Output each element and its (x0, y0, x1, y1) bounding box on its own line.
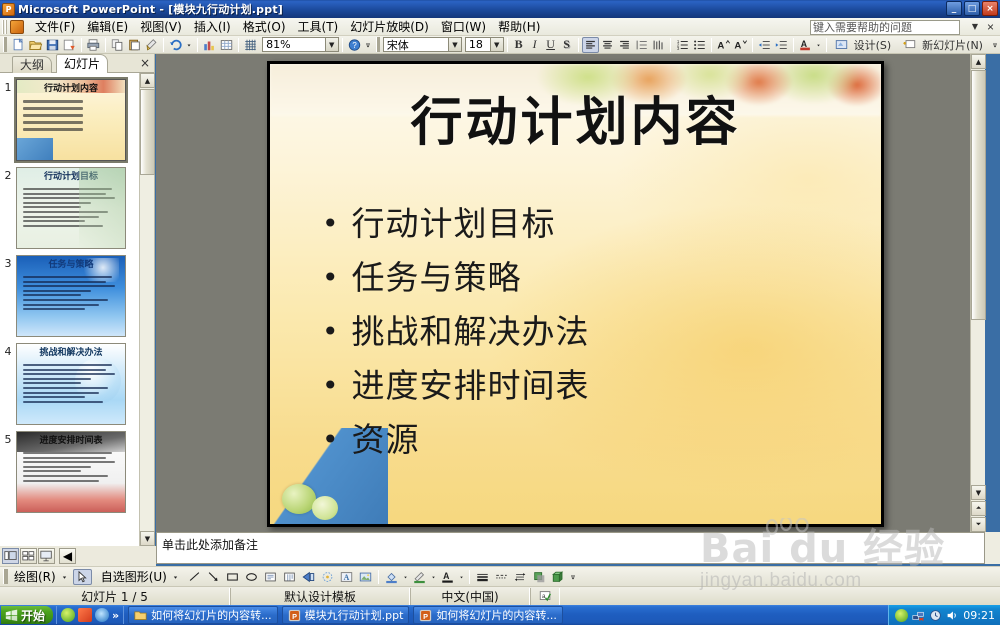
align-center-icon[interactable] (599, 37, 616, 53)
line-icon[interactable] (185, 569, 204, 585)
font-size-combo[interactable]: 18 ▼ (465, 37, 504, 52)
quick-launch-bar: » (56, 606, 124, 624)
slide-title-text[interactable]: 行动计划内容 (290, 80, 861, 155)
slide-thumbnail-line (23, 304, 99, 306)
menu-item-file[interactable]: 文件(F) (29, 17, 81, 36)
view-buttons-row: ◀ (0, 546, 156, 566)
slide-thumbnail-line (23, 197, 115, 199)
decrease-font-size-icon[interactable]: A (732, 37, 749, 53)
slide-thumbnail-title: 行动计划目标 (21, 172, 121, 182)
clock-icon[interactable] (929, 609, 942, 622)
chevron-down-icon[interactable]: ▼ (490, 38, 503, 51)
slide-thumbnail-number: 1 (0, 79, 16, 94)
svg-text:A: A (800, 38, 807, 48)
font-name-value: 宋体 (387, 37, 409, 53)
drawing-toolbar: 绘图(R) 自选图形(U) (0, 566, 1000, 586)
slide-thumbnail-line (23, 211, 108, 213)
slide-thumbnail-line (23, 475, 108, 477)
scroll-down-button[interactable]: ▼ (140, 531, 155, 546)
underline-button[interactable]: U (543, 37, 559, 53)
slide-thumbnail-body-lines (23, 100, 120, 135)
start-button[interactable]: 开始 (1, 606, 53, 624)
window-titlebar: P Microsoft PowerPoint - [模块九行动计划.ppt] _… (0, 0, 1000, 18)
slide-thumbnail-line (23, 401, 103, 403)
toolbar-separator (578, 38, 579, 52)
slide-thumbnail-line (23, 461, 115, 463)
align-right-icon[interactable] (616, 37, 633, 53)
fruit-decoration-icon (312, 496, 338, 520)
slide-thumbnail-line (23, 382, 81, 384)
scroll-left-button[interactable]: ◀ (59, 548, 76, 564)
slide-thumbnail-body-lines (23, 452, 120, 484)
menu-grip[interactable] (2, 20, 8, 34)
slide-thumbnail-title: 行动计划内容 (21, 84, 121, 94)
slide-thumbnail-line (23, 378, 91, 380)
slide-thumbnail-line (23, 285, 115, 287)
demote-icon[interactable] (773, 37, 790, 53)
new-icon[interactable] (10, 37, 27, 53)
svg-text:3: 3 (676, 45, 679, 50)
toolbar-separator (670, 38, 671, 52)
slide-thumbnail-line (23, 466, 91, 468)
slide-thumbnail-line (23, 225, 103, 227)
new-slide-button-label: 新幻灯片(N) (919, 37, 986, 53)
slide-thumbnail-line (23, 369, 106, 371)
svg-text:A: A (443, 571, 450, 581)
chevron-down-icon[interactable] (401, 569, 410, 585)
slide-thumbnail-line (23, 470, 81, 472)
slide-thumbnail-line (23, 480, 99, 482)
maximize-button[interactable]: □ (964, 1, 980, 16)
bullet-marker-icon: • (322, 366, 340, 406)
slide-thumbnail-line (23, 299, 108, 301)
volume-icon[interactable] (946, 609, 959, 622)
slide-thumbnail-title: 进度安排时间表 (21, 436, 121, 446)
next-slide-button[interactable]: ⏷ (971, 517, 986, 532)
internet-explorer-icon[interactable] (95, 608, 109, 622)
scrollbar-thumb[interactable] (971, 70, 986, 320)
drawing-toolbar-grip[interactable] (3, 569, 8, 584)
slide-thumbnail-item[interactable]: 4挑战和解决办法 (0, 337, 140, 425)
slide-thumbnail-line (23, 114, 83, 117)
menu-item-window[interactable]: 窗口(W) (435, 17, 492, 36)
drawing-overflow-icon[interactable] (568, 569, 578, 585)
powerpoint-window: P Microsoft PowerPoint - [模块九行动计划.ppt] _… (0, 0, 1000, 625)
help-icon[interactable]: ? (346, 37, 363, 53)
slide-thumbnail-item[interactable]: 1行动计划内容 (0, 73, 140, 161)
toolbar-separator (711, 38, 712, 52)
line-color-icon[interactable] (410, 569, 429, 585)
previous-slide-button[interactable]: ⏶ (971, 501, 986, 516)
slide-thumbnail-line (23, 220, 85, 222)
document-icon (10, 20, 24, 34)
formatting-overflow-icon[interactable] (990, 37, 1000, 53)
slide-thumbnail-line (23, 452, 112, 454)
align-left-icon[interactable] (582, 37, 599, 53)
status-design-template[interactable]: 默认设计模板 (230, 588, 410, 605)
taskbar-button-powerpoint-2[interactable]: P 如何将幻灯片的内容转... (413, 606, 563, 624)
slide-thumbnail[interactable]: 挑战和解决办法 (16, 343, 126, 425)
window-title: Microsoft PowerPoint - [模块九行动计划.ppt] (18, 1, 283, 17)
toolbar-grip[interactable] (3, 37, 7, 52)
toolbar-separator (342, 38, 343, 52)
svg-text:A: A (717, 40, 724, 51)
insert-diagram-icon[interactable] (299, 569, 318, 585)
status-language[interactable]: 中文(中国) (410, 588, 530, 605)
chevron-down-icon[interactable]: ▼ (325, 38, 338, 51)
bullet-marker-icon: • (322, 204, 340, 244)
insert-clipart-icon[interactable] (318, 569, 337, 585)
line-style-icon[interactable] (473, 569, 492, 585)
slide-thumbnail-number: 2 (0, 167, 16, 182)
shadow-style-icon[interactable] (530, 569, 549, 585)
menu-bar: 文件(F) 编辑(E) 视图(V) 插入(I) 格式(O) 工具(T) 幻灯片放… (0, 18, 1000, 36)
slide-thumbnail-number: 5 (0, 431, 16, 446)
slide-thumbnail-line (23, 128, 83, 131)
slide-thumbnail-line (23, 107, 83, 110)
oval-icon[interactable] (242, 569, 261, 585)
slide-bullet-text: 资源 (352, 420, 420, 460)
slide-thumbnail-list[interactable]: 1行动计划内容2行动计划目标3任务与策略4挑战和解决办法5进度安排时间表 (0, 73, 140, 546)
slide-thumbnail[interactable]: 行动计划内容 (16, 79, 126, 161)
folder-icon (134, 609, 147, 622)
toolbar-separator (793, 38, 794, 52)
toolbar-separator (163, 38, 164, 52)
increase-font-size-icon[interactable]: A (715, 37, 732, 53)
toolbar-separator (105, 38, 106, 52)
slide-bullet-item[interactable]: •任务与策略 (322, 258, 851, 298)
slide-body-text[interactable]: •行动计划目标•任务与策略•挑战和解决办法•进度安排时间表•资源 (322, 204, 851, 474)
svg-text:?: ? (352, 41, 357, 50)
arrow-icon[interactable] (204, 569, 223, 585)
textbox-icon[interactable] (261, 569, 280, 585)
taskbar-button-label: 模块九行动计划.ppt (305, 607, 404, 623)
tab-slides[interactable]: 幻灯片 (56, 54, 108, 73)
toolbar-separator (81, 38, 82, 52)
slide-thumbnail-line (23, 193, 106, 195)
arrow-select-icon[interactable] (73, 569, 92, 585)
menu-item-insert[interactable]: 插入(I) (188, 17, 237, 36)
svg-text:A: A (734, 40, 741, 51)
font-name-combo[interactable]: 宋体 ▼ (383, 37, 462, 52)
columns-icon[interactable] (650, 37, 667, 53)
slide-sorter-view-button[interactable] (20, 548, 37, 564)
media-icon[interactable] (895, 609, 908, 622)
fruit-decoration-icon (282, 484, 316, 514)
slide-thumbnail-line (23, 216, 99, 218)
slide-thumbnail-item[interactable]: 2行动计划目标 (0, 161, 140, 249)
toolbar-separator (826, 38, 827, 52)
slide-bullet-item[interactable]: •资源 (322, 420, 851, 460)
chevron-down-icon[interactable] (457, 569, 466, 585)
slide-thumbnail-line (23, 206, 81, 208)
taskbar-button-label: 如何将幻灯片的内容转... (436, 607, 557, 623)
menu-item-view[interactable]: 视图(V) (134, 17, 188, 36)
font-color-icon[interactable]: A (797, 37, 814, 53)
taskbar-button-folder[interactable]: 如何将幻灯片的内容转... (128, 606, 278, 624)
chevron-more-icon[interactable]: » (112, 609, 119, 622)
print-icon[interactable] (85, 37, 102, 53)
svg-text:A: A (344, 573, 350, 582)
slide-thumbnail-line (23, 308, 85, 310)
slide-bullet-item[interactable]: •挑战和解决办法 (322, 312, 851, 352)
chevron-down-icon[interactable] (170, 569, 181, 585)
toolbar-overflow-icon[interactable] (363, 37, 373, 53)
svg-text:P: P (423, 611, 428, 620)
slide-thumbnail[interactable]: 进度安排时间表 (16, 431, 126, 513)
slide-thumbnail-line (23, 202, 91, 204)
system-tray: 09:21 (888, 605, 1000, 625)
slide-thumbnail-line (23, 290, 91, 292)
toolbar-separator (378, 570, 379, 584)
bulleted-list-icon[interactable] (691, 37, 708, 53)
rectangle-icon[interactable] (223, 569, 242, 585)
menu-item-help[interactable]: 帮助(H) (492, 17, 546, 36)
network-icon[interactable] (912, 609, 925, 622)
start-button-label: 开始 (21, 607, 45, 624)
paste-icon[interactable] (126, 37, 143, 53)
powerpoint-icon: P (288, 609, 301, 622)
italic-button[interactable]: I (527, 37, 543, 53)
undo-dropdown-icon[interactable] (184, 37, 194, 53)
slide-thumbnail-line (23, 294, 81, 296)
windows-taskbar: 开始 » 如何将幻灯片的内容转... P 模块九行动计划.ppt P 如何将幻灯… (0, 605, 1000, 625)
slide-bullet-item[interactable]: •行动计划目标 (322, 204, 851, 244)
slide-thumbnail[interactable]: 任务与策略 (16, 255, 126, 337)
help-search-input[interactable]: 键入需要帮助的问题 (810, 20, 960, 35)
slide-thumbnail-line (23, 100, 83, 103)
close-button[interactable]: × (982, 1, 998, 16)
slide-thumbnail-body-lines (23, 188, 120, 229)
design-button-label: 设计(S) (851, 37, 895, 53)
slide-thumbnail-line (23, 281, 106, 283)
insert-picture-icon[interactable] (356, 569, 375, 585)
numbered-list-icon[interactable]: 123 (674, 37, 691, 53)
chevron-down-icon[interactable]: ▼ (972, 22, 978, 31)
scroll-up-button[interactable]: ▲ (971, 54, 986, 69)
notes-pane[interactable]: 单击此处添加备注 (156, 532, 985, 564)
vertical-textbox-icon[interactable] (280, 569, 299, 585)
slide-thumbnail-line (23, 276, 112, 278)
autoshapes-menu-button[interactable]: 自选图形(U) (98, 568, 170, 585)
zoom-value: 81% (266, 38, 290, 51)
toolbar-separator (197, 38, 198, 52)
slide-thumbnail-line (23, 392, 99, 394)
taskbar-button-label: 如何将幻灯片的内容转... (151, 607, 272, 623)
slide-thumbnail-item[interactable]: 3任务与策略 (0, 249, 140, 337)
insert-wordart-icon[interactable]: A (337, 569, 356, 585)
dash-style-icon[interactable] (492, 569, 511, 585)
slide-thumbnail-item[interactable]: 5进度安排时间表 (0, 425, 140, 513)
pane-tabs: 大纲 幻灯片 × (0, 54, 154, 73)
toolbar-separator (469, 570, 470, 584)
toolbar-separator (752, 38, 753, 52)
powerpoint-icon: P (419, 609, 432, 622)
close-pane-button[interactable]: × (140, 56, 150, 70)
minimize-button[interactable]: _ (946, 1, 962, 16)
slide-thumbnail-number: 4 (0, 343, 16, 358)
toolbar-separator (507, 38, 508, 52)
scroll-down-button[interactable]: ▼ (971, 485, 986, 500)
bullet-marker-icon: • (322, 312, 340, 352)
close-document-button[interactable]: × (987, 20, 994, 34)
slide-bullet-text: 挑战和解决办法 (352, 312, 590, 352)
arrow-style-icon[interactable] (511, 569, 530, 585)
chevron-down-icon[interactable]: ▼ (448, 38, 461, 51)
scrollbar-thumb[interactable] (140, 89, 155, 175)
fill-color-icon[interactable] (382, 569, 401, 585)
show-desktop-icon[interactable] (78, 608, 92, 622)
pane-scrollbar[interactable]: ▲ ▼ (139, 73, 154, 546)
format-painter-icon[interactable] (143, 37, 160, 53)
current-slide-frame[interactable]: 行动计划内容 •行动计划目标•任务与策略•挑战和解决办法•进度安排时间表•资源 (267, 61, 884, 527)
status-slide-counter: 幻灯片 1 / 5 (0, 588, 230, 605)
slide-thumbnail-title: 挑战和解决办法 (21, 348, 121, 358)
chevron-down-icon[interactable] (59, 569, 70, 585)
slide-thumbnail-body-lines (23, 276, 120, 313)
save-icon[interactable] (44, 37, 61, 53)
slide-bullet-item[interactable]: •进度安排时间表 (322, 366, 851, 406)
slide-thumbnail-line (23, 387, 108, 389)
bullet-marker-icon: • (322, 420, 340, 460)
slides-outline-pane: 大纲 幻灯片 × 1行动计划内容2行动计划目标3任务与策略4挑战和解决办法5进度… (0, 54, 155, 546)
normal-view-button[interactable] (2, 548, 19, 564)
media-player-icon[interactable] (61, 608, 75, 622)
draw-menu-button[interactable]: 绘图(R) (11, 568, 59, 585)
slide-bullet-text: 任务与策略 (352, 258, 522, 298)
scroll-up-button[interactable]: ▲ (140, 73, 155, 88)
promote-icon[interactable] (756, 37, 773, 53)
status-bar: 幻灯片 1 / 5 默认设计模板 中文(中国) a (0, 586, 1000, 605)
font-color-dropdown-icon[interactable] (814, 37, 823, 53)
slide-editor-area: 行动计划内容 •行动计划目标•任务与策略•挑战和解决办法•进度安排时间表•资源 … (156, 54, 985, 532)
email-icon[interactable] (61, 37, 78, 53)
slide-thumbnail-line (23, 457, 106, 459)
slide-canvas[interactable]: 行动计划内容 •行动计划目标•任务与策略•挑战和解决办法•进度安排时间表•资源 (270, 64, 881, 524)
bold-button[interactable]: B (511, 37, 527, 53)
font-size-value: 18 (469, 38, 483, 51)
slide-thumbnail[interactable]: 行动计划目标 (16, 167, 126, 249)
copy-icon[interactable] (109, 37, 126, 53)
slide-thumbnail-title: 任务与策略 (21, 260, 121, 270)
editor-vertical-scrollbar[interactable]: ▲ ▼ ⏶ ⏷ (970, 54, 985, 532)
tab-outline[interactable]: 大纲 (12, 56, 52, 73)
new-slide-button[interactable]: 新幻灯片(N) (898, 37, 990, 53)
taskbar-clock[interactable]: 09:21 (963, 609, 995, 622)
undo-icon[interactable] (167, 37, 184, 53)
slide-thumbnail-body-lines (23, 364, 120, 405)
chevron-down-icon[interactable] (429, 569, 438, 585)
slide-thumbnail-line (23, 396, 85, 398)
bullet-marker-icon: • (322, 258, 340, 298)
toolbar-separator (238, 38, 239, 52)
slide-thumbnail-number: 3 (0, 255, 16, 270)
design-button[interactable]: 设计(S) (830, 37, 899, 53)
menu-item-tools[interactable]: 工具(T) (292, 17, 345, 36)
3d-style-icon[interactable] (549, 569, 568, 585)
slide-thumbnail-line (23, 188, 112, 190)
slide-thumbnail-line (23, 121, 83, 124)
slide-show-button[interactable] (38, 548, 55, 564)
line-spacing-icon[interactable] (633, 37, 650, 53)
standard-toolbar: 81% ▼ ? 宋体 ▼ 18 ▼ B I U S (0, 36, 1000, 54)
slide-thumbnail-line (23, 373, 115, 375)
grid-icon[interactable] (242, 37, 259, 53)
slide-bullet-text: 行动计划目标 (352, 204, 556, 244)
windows-flag-icon (5, 609, 18, 622)
zoom-combo[interactable]: 81% ▼ (262, 37, 339, 52)
spellcheck-icon[interactable]: a (530, 588, 560, 605)
powerpoint-icon: P (2, 3, 15, 16)
text-shadow-button[interactable]: S (559, 37, 575, 53)
open-icon[interactable] (27, 37, 44, 53)
window-controls: _ □ × (946, 1, 998, 16)
formatting-toolbar-grip[interactable] (376, 37, 380, 52)
font-color-icon[interactable]: A (438, 569, 457, 585)
menu-item-slideshow[interactable]: 幻灯片放映(D) (344, 17, 435, 36)
table-icon[interactable] (218, 37, 235, 53)
svg-text:P: P (292, 611, 297, 620)
slide-bullet-text: 进度安排时间表 (352, 366, 590, 406)
taskbar-button-powerpoint[interactable]: P 模块九行动计划.ppt (282, 606, 410, 624)
menu-item-edit[interactable]: 编辑(E) (81, 17, 134, 36)
menu-item-format[interactable]: 格式(O) (237, 17, 292, 36)
chart-icon[interactable] (201, 37, 218, 53)
slide-thumbnail-line (23, 364, 112, 366)
notes-scrollbar[interactable] (985, 532, 1000, 564)
